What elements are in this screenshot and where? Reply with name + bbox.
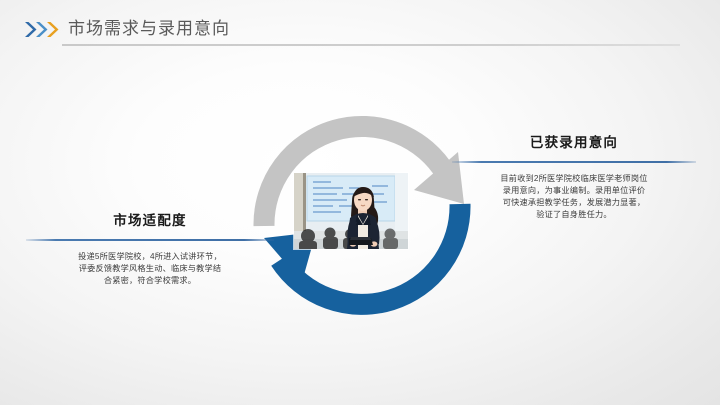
chevron-orange-icon	[46, 21, 59, 38]
market-fit-block: 市场适配度 投递5所医学院校，4所进入试讲环节， 评委反馈教学风格生动、临床与教…	[26, 212, 274, 287]
slide-canvas: 市场需求与录用意向	[0, 0, 720, 405]
body-line: 投递5所医学院校，4所进入试讲环节，	[26, 251, 274, 263]
body-line: 可快速承担教学任务，发展潜力显著，	[452, 197, 696, 209]
body-line: 录用意向，为事业编制。录用单位评价	[452, 185, 696, 197]
market-fit-divider	[26, 239, 274, 241]
offer-intent-block: 已获录用意向 目前收到2所医学院校临床医学老师岗位 录用意向，为事业编制。录用单…	[452, 134, 696, 221]
classroom-teacher-photo	[294, 173, 408, 249]
body-line: 合紧密，符合学校需求。	[26, 275, 274, 287]
offer-intent-heading: 已获录用意向	[452, 134, 696, 152]
slide-header: 市场需求与录用意向	[0, 0, 720, 52]
body-line: 验证了自身胜任力。	[452, 209, 696, 221]
offer-intent-body: 目前收到2所医学院校临床医学老师岗位 录用意向，为事业编制。录用单位评价 可快速…	[452, 173, 696, 222]
offer-intent-divider	[452, 161, 696, 163]
header-divider	[62, 44, 680, 46]
chevron-group	[24, 21, 68, 38]
body-line: 目前收到2所医学院校临床医学老师岗位	[452, 173, 696, 185]
market-fit-heading: 市场适配度	[26, 212, 274, 230]
body-line: 评委反馈教学风格生动、临床与教学结	[26, 263, 274, 275]
page-title: 市场需求与录用意向	[68, 14, 230, 39]
market-fit-body: 投递5所医学院校，4所进入试讲环节， 评委反馈教学风格生动、临床与教学结 合紧密…	[26, 251, 274, 288]
